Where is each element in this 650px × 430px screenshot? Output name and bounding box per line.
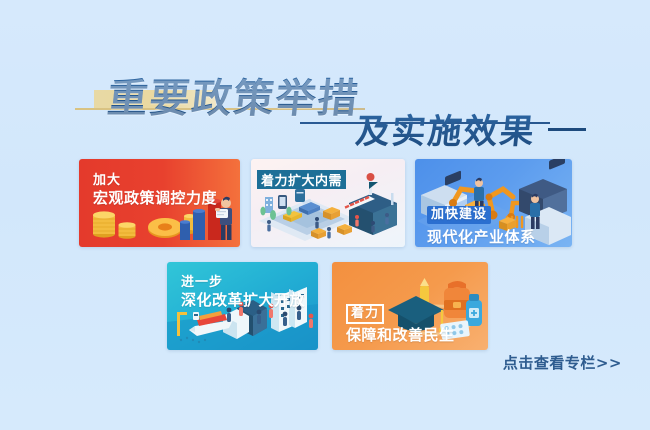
policy-card-expand-demand[interactable]: 着力扩大内需 xyxy=(251,159,405,247)
card3-line1: 加快建设 xyxy=(427,206,491,224)
card1-line2: 宏观政策调控力度 xyxy=(93,189,217,208)
page-title-line2: 及实施效果 xyxy=(353,104,538,153)
policy-card-label: 加快建设 现代化产业体系 xyxy=(427,203,536,247)
policy-card-label: 进一步 深化改革扩大开放 xyxy=(181,275,305,310)
page-title-line1: 重要政策举措 xyxy=(105,66,363,124)
policy-card-peoples-livelihood[interactable]: 着力 保障和改善民生 xyxy=(332,262,488,350)
policy-card-reform-opening[interactable]: 进一步 深化改革扩大开放 xyxy=(167,262,318,350)
policy-card-macro-control[interactable]: 加大 宏观政策调控力度 xyxy=(79,159,240,247)
card2-ribbon-label: 着力扩大内需 xyxy=(261,170,342,189)
card1-line1: 加大 xyxy=(93,173,217,189)
view-column-link[interactable]: 点击查看专栏>> xyxy=(503,352,622,373)
card4-line2: 深化改革扩大开放 xyxy=(181,291,305,310)
title-end-dash xyxy=(548,128,586,131)
policy-card-label: 加大 宏观政策调控力度 xyxy=(93,173,217,208)
card4-line1: 进一步 xyxy=(181,275,305,291)
card3-line2: 现代化产业体系 xyxy=(427,228,536,247)
card5-line1: 着力 xyxy=(346,304,384,324)
policy-card-label: 着力 保障和改善民生 xyxy=(346,302,455,345)
card5-line2: 保障和改善民生 xyxy=(346,326,455,345)
card2-ribbon: 着力扩大内需 xyxy=(257,170,346,189)
banner-title-block: 重要政策举措 及实施效果 xyxy=(0,58,650,148)
policy-measures-banner: { "banner": { "title_line1": "重要政策举措", "… xyxy=(0,0,650,430)
policy-card-modern-industry[interactable]: 加快建设 现代化产业体系 xyxy=(415,159,572,247)
card2-ribbon-tail xyxy=(369,182,378,189)
